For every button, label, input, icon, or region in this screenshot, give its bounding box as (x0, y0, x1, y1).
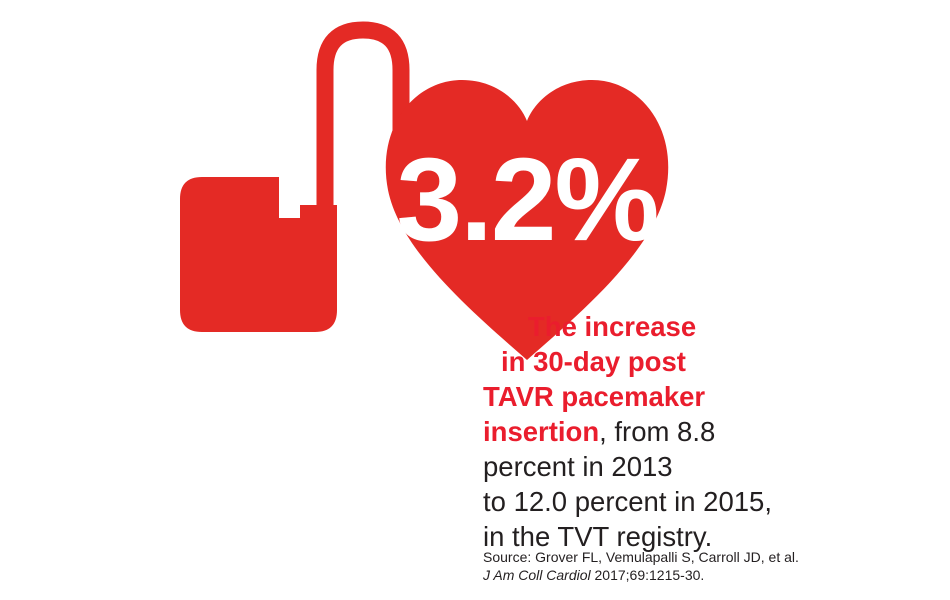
headline-line-5-text: percent in 2013 (483, 451, 673, 482)
stat-percentage: 3.2% (397, 134, 658, 266)
headline-line-4-plain: , from 8.8 (599, 416, 715, 447)
headline-line-1-text: The increase (528, 311, 696, 342)
journal-name: J Am Coll Cardiol (483, 567, 591, 583)
headline-line-3: TAVR pacemaker (483, 379, 903, 414)
headline-line-2-text: in 30-day post (501, 346, 686, 377)
pacemaker-lead-wire (274, 30, 401, 228)
headline-line-6-text: to 12.0 percent in 2015, (483, 486, 772, 517)
headline-line-2: in 30-day post (483, 344, 903, 379)
headline-line-3-text: TAVR pacemaker (483, 381, 705, 412)
headline-text-block: The increase in 30-day post TAVR pacemak… (483, 309, 903, 554)
headline-line-1: The increase (483, 309, 903, 344)
source-line-journal: J Am Coll Cardiol 2017;69:1215-30. (483, 566, 913, 584)
source-line-authors: Source: Grover FL, Vemulapalli S, Carrol… (483, 548, 913, 566)
headline-line-4-highlight: insertion (483, 416, 599, 447)
headline-line-5: percent in 2013 (483, 449, 903, 484)
journal-citation: 2017;69:1215-30. (591, 567, 705, 583)
pacemaker-device-shape (180, 177, 337, 332)
headline-line-6: to 12.0 percent in 2015, (483, 484, 903, 519)
headline-line-4: insertion, from 8.8 (483, 414, 903, 449)
infographic-canvas: 3.2% The increase in 30-day post TAVR pa… (0, 0, 950, 600)
source-citation: Source: Grover FL, Vemulapalli S, Carrol… (483, 548, 913, 584)
